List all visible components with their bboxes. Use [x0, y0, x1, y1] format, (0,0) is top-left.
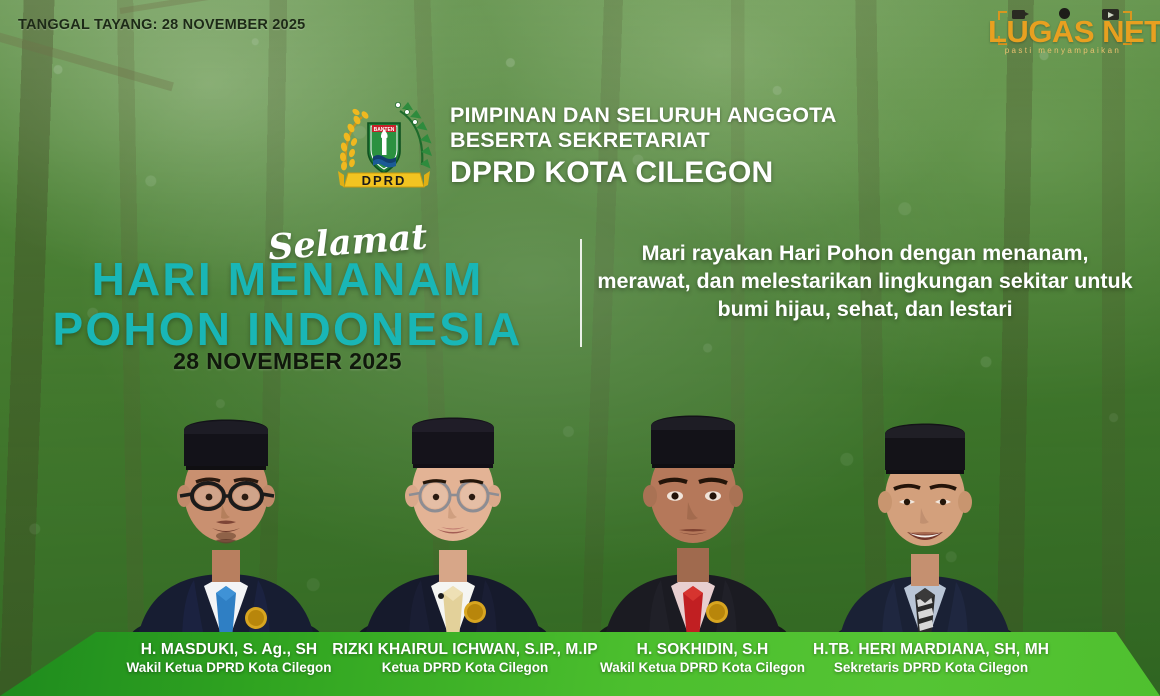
- person-title: Wakil Ketua DPRD Kota Cilegon: [104, 659, 354, 677]
- dprd-emblem-svg: BANTEN DPRD: [332, 95, 436, 195]
- person-name: H. SOKHIDIN, S.H: [585, 640, 820, 659]
- air-date-label: TANGGAL TAYANG: 28 NOVEMBER 2025: [18, 17, 305, 33]
- headline-date: 28 NOVEMBER 2025: [0, 348, 575, 375]
- person-label-0: H. MASDUKI, S. Ag., SH Wakil Ketua DPRD …: [104, 640, 354, 677]
- person-title: Wakil Ketua DPRD Kota Cilegon: [585, 659, 820, 677]
- portrait-masduki: [128, 400, 324, 648]
- person-name: H.TB. HERI MARDIANA, SH, MH: [800, 640, 1062, 659]
- person-label-3: H.TB. HERI MARDIANA, SH, MH Sekretaris D…: [800, 640, 1062, 677]
- person-title: Ketua DPRD Kota Cilegon: [330, 659, 600, 677]
- dprd-emblem-icon: BANTEN DPRD: [332, 95, 436, 195]
- logo-wordmark: LUGAS NET: [988, 14, 1138, 50]
- person-name: H. MASDUKI, S. Ag., SH: [104, 640, 354, 659]
- person-title: Sekretaris DPRD Kota Cilegon: [800, 659, 1062, 677]
- message-text: Mari rayakan Hari Pohon dengan menanam, …: [592, 240, 1138, 324]
- portrait-heri-mardiana: [832, 410, 1018, 648]
- emblem-ribbon-text: DPRD: [362, 173, 407, 188]
- header-line-2: BESERTA SEKRETARIAT: [450, 128, 837, 153]
- portrait-rizki-khairul-ichwan: [355, 400, 551, 648]
- headline-line-1: HARI MENANAM: [0, 252, 575, 306]
- logo-tagline: pasti menyampaikan: [988, 46, 1138, 55]
- header-line-1: PIMPINAN DAN SELURUH ANGGOTA: [450, 103, 837, 128]
- institution-header-text: PIMPINAN DAN SELURUH ANGGOTA BESERTA SEK…: [450, 99, 837, 191]
- person-name: RIZKI KHAIRUL ICHWAN, S.IP., M.IP: [330, 640, 600, 659]
- person-label-1: RIZKI KHAIRUL ICHWAN, S.IP., M.IP Ketua …: [330, 640, 600, 677]
- person-label-2: H. SOKHIDIN, S.H Wakil Ketua DPRD Kota C…: [585, 640, 820, 677]
- poster-canvas: TANGGAL TAYANG: 28 NOVEMBER 2025 LUGAS N…: [0, 0, 1160, 696]
- header-institution-name: DPRD KOTA CILEGON: [450, 155, 837, 191]
- lugas-net-logo[interactable]: LUGAS NET pasti menyampaikan: [988, 6, 1138, 58]
- institution-header: BANTEN DPRD PIMPINAN DAN SELURUH ANGGOTA…: [332, 95, 837, 195]
- names-list: H. MASDUKI, S. Ag., SH Wakil Ketua DPRD …: [0, 632, 1160, 696]
- portrait-sokhidin: [595, 400, 791, 648]
- vertical-divider: [580, 239, 582, 347]
